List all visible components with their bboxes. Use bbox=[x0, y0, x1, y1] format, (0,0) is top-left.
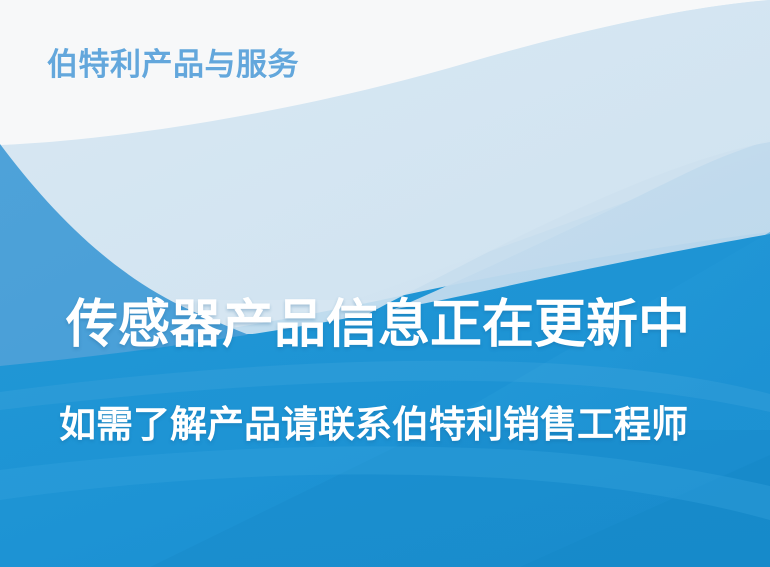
background-decoration bbox=[0, 0, 770, 567]
page-title: 伯特利产品与服务 bbox=[47, 48, 299, 82]
headline-text: 传感器产品信息正在更新中 bbox=[66, 296, 690, 354]
promo-banner: 伯特利产品与服务 传感器产品信息正在更新中 如需了解产品请联系伯特利销售工程师 bbox=[0, 0, 770, 567]
subheadline-text: 如需了解产品请联系伯特利销售工程师 bbox=[59, 404, 688, 445]
